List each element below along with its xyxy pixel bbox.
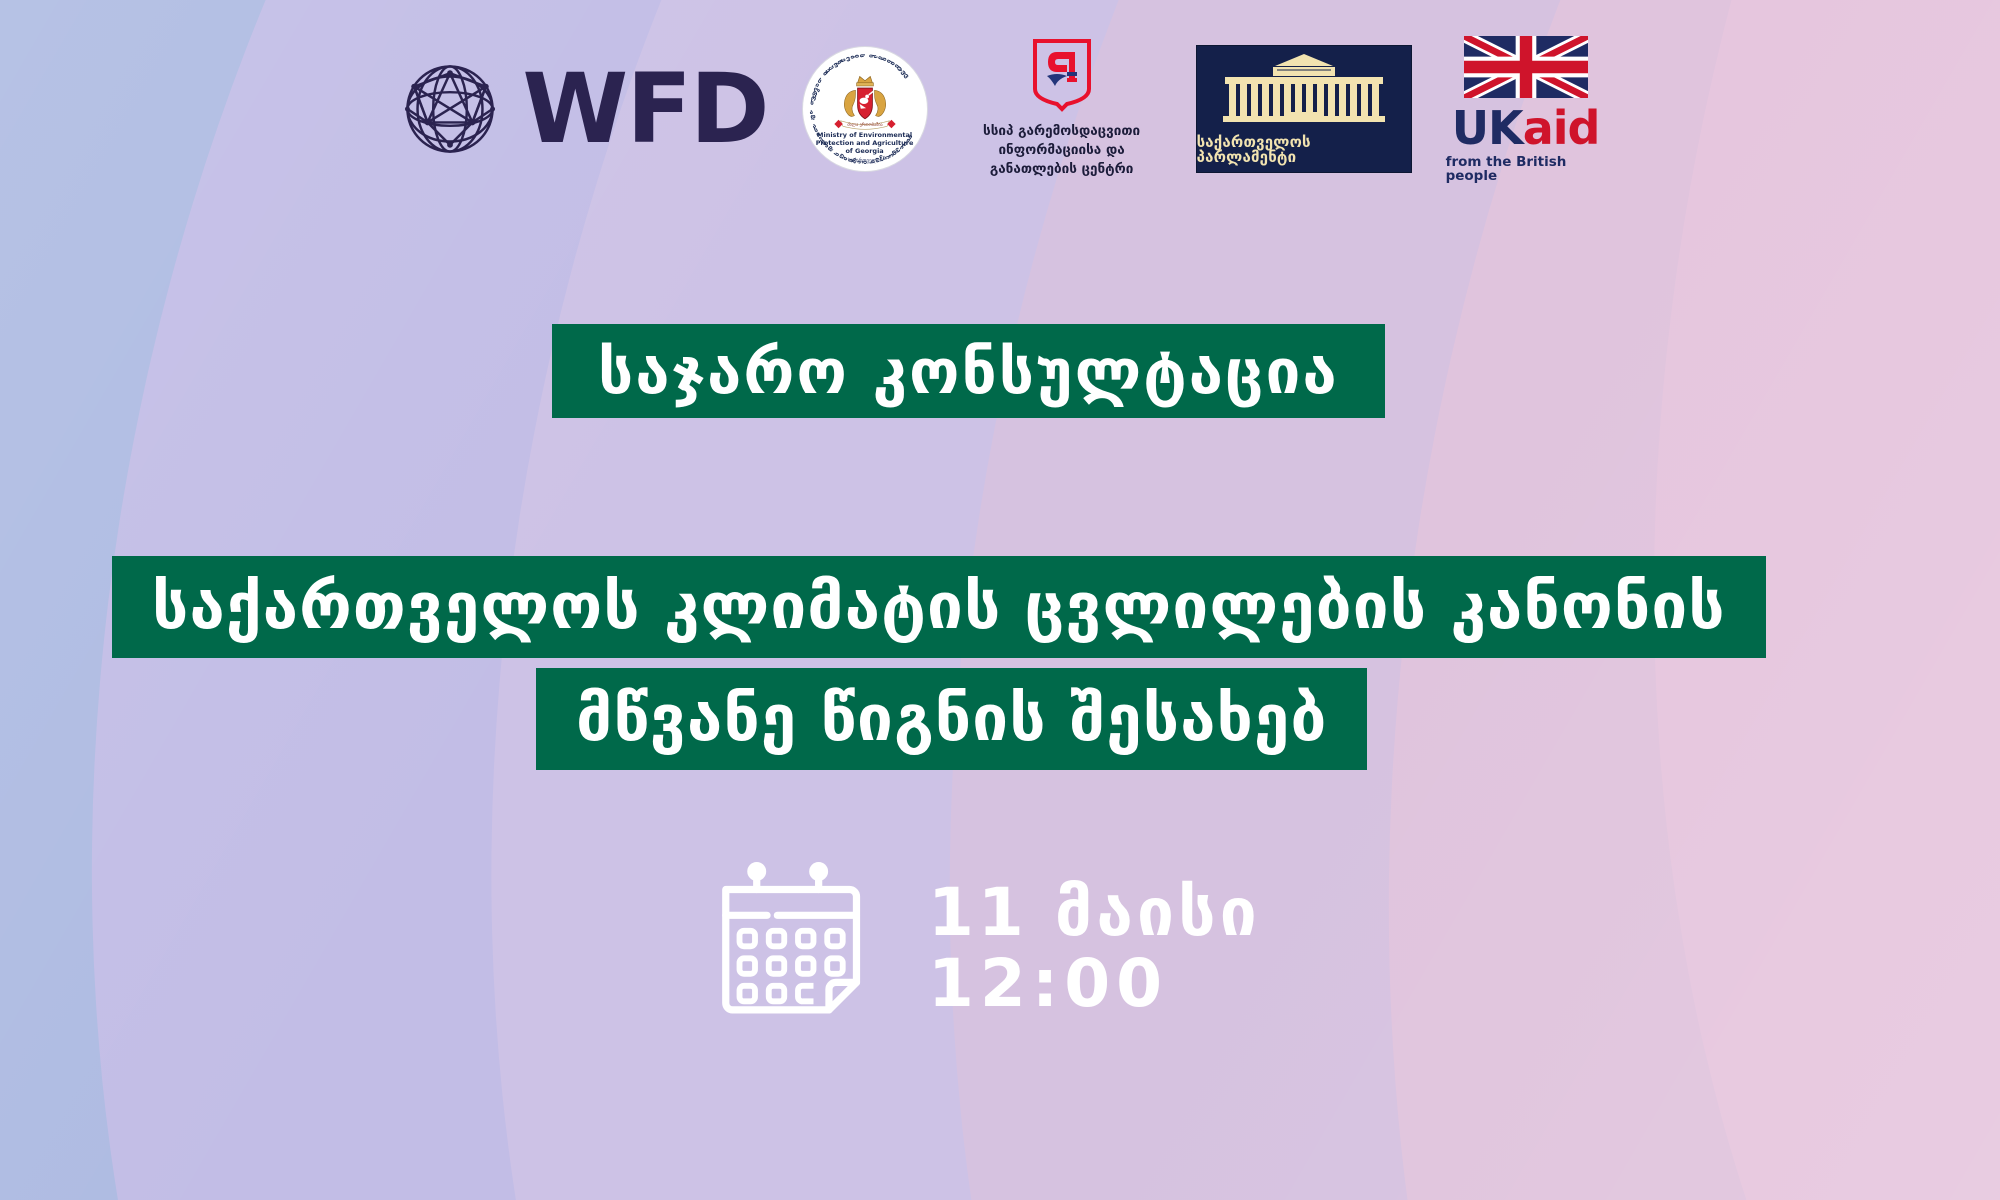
calendar-icon: [712, 862, 884, 1034]
seal-caption-en-line3: of Georgia: [802, 147, 928, 155]
logo-ukaid: UKaid from the British people: [1446, 34, 1606, 183]
seal-caption-ka: საქართველო: [802, 158, 928, 164]
logo-strip: WFD საქართველოს გარემოს დაცვისა და სოფლი…: [0, 34, 2000, 183]
wfd-wordmark: WFD: [522, 61, 767, 157]
headline-text: საჯარო კონსულტაცია: [598, 335, 1339, 408]
svg-text:ძალა ერთობაშია: ძალა ერთობაშია: [847, 122, 882, 127]
union-jack-icon: [1464, 34, 1588, 100]
parliament-building-icon: [1215, 50, 1393, 132]
logo-parliament: საქართველოს პარლამენტი: [1196, 45, 1412, 173]
ukaid-wordmark: UKaid: [1452, 105, 1600, 151]
event-time: 12:00: [928, 948, 1261, 1019]
ukaid-uk-text: UK: [1452, 101, 1523, 155]
event-datetime-row: 11 მაისი 12:00: [712, 862, 1261, 1034]
title-banner-line1: საქართველოს კლიმატის ცვლილების კანონის: [112, 556, 1766, 658]
eiec-caption: სსიპ გარემოსდაცვითი ინფორმაციისა და განა…: [983, 122, 1140, 179]
eiec-caption-line3: განათლების ცენტრი: [983, 160, 1140, 179]
logo-env-info-centre: სსიპ გარემოსდაცვითი ინფორმაციისა და განა…: [962, 38, 1162, 179]
title-banner-line2: მწვანე წიგნის შესახებ: [536, 668, 1367, 770]
event-datetime-text: 11 მაისი 12:00: [928, 877, 1261, 1020]
seal-caption-en-line1: Ministry of Environmental: [802, 131, 928, 139]
eiec-caption-line1: სსიპ გარემოსდაცვითი: [983, 122, 1140, 141]
poster-canvas: WFD საქართველოს გარემოს დაცვისა და სოფლი…: [0, 0, 2000, 1200]
ukaid-tagline: from the British people: [1446, 156, 1606, 183]
event-date: 11 მაისი: [928, 877, 1261, 948]
parliament-caption: საქართველოს პარლამენტი: [1197, 135, 1411, 165]
eiec-shield-icon: [1031, 38, 1093, 112]
ukaid-aid-text: aid: [1523, 101, 1600, 155]
eiec-caption-line2: ინფორმაციისა და: [983, 141, 1140, 160]
title-text-line1: საქართველოს კლიმატის ცვლილების კანონის: [152, 570, 1726, 644]
logo-wfd: WFD: [394, 53, 767, 165]
title-text-line2: მწვანე წიგნის შესახებ: [576, 682, 1327, 756]
headline-banner: საჯარო კონსულტაცია: [552, 324, 1385, 418]
globe-icon: [394, 53, 506, 165]
seal-caption-en-line2: Protection and Agriculture: [802, 139, 928, 147]
seal-caption-en: Ministry of Environmental Protection and…: [802, 131, 928, 155]
logo-ministry-seal: საქართველოს გარემოს დაცვისა და სოფლის მე…: [802, 46, 928, 172]
